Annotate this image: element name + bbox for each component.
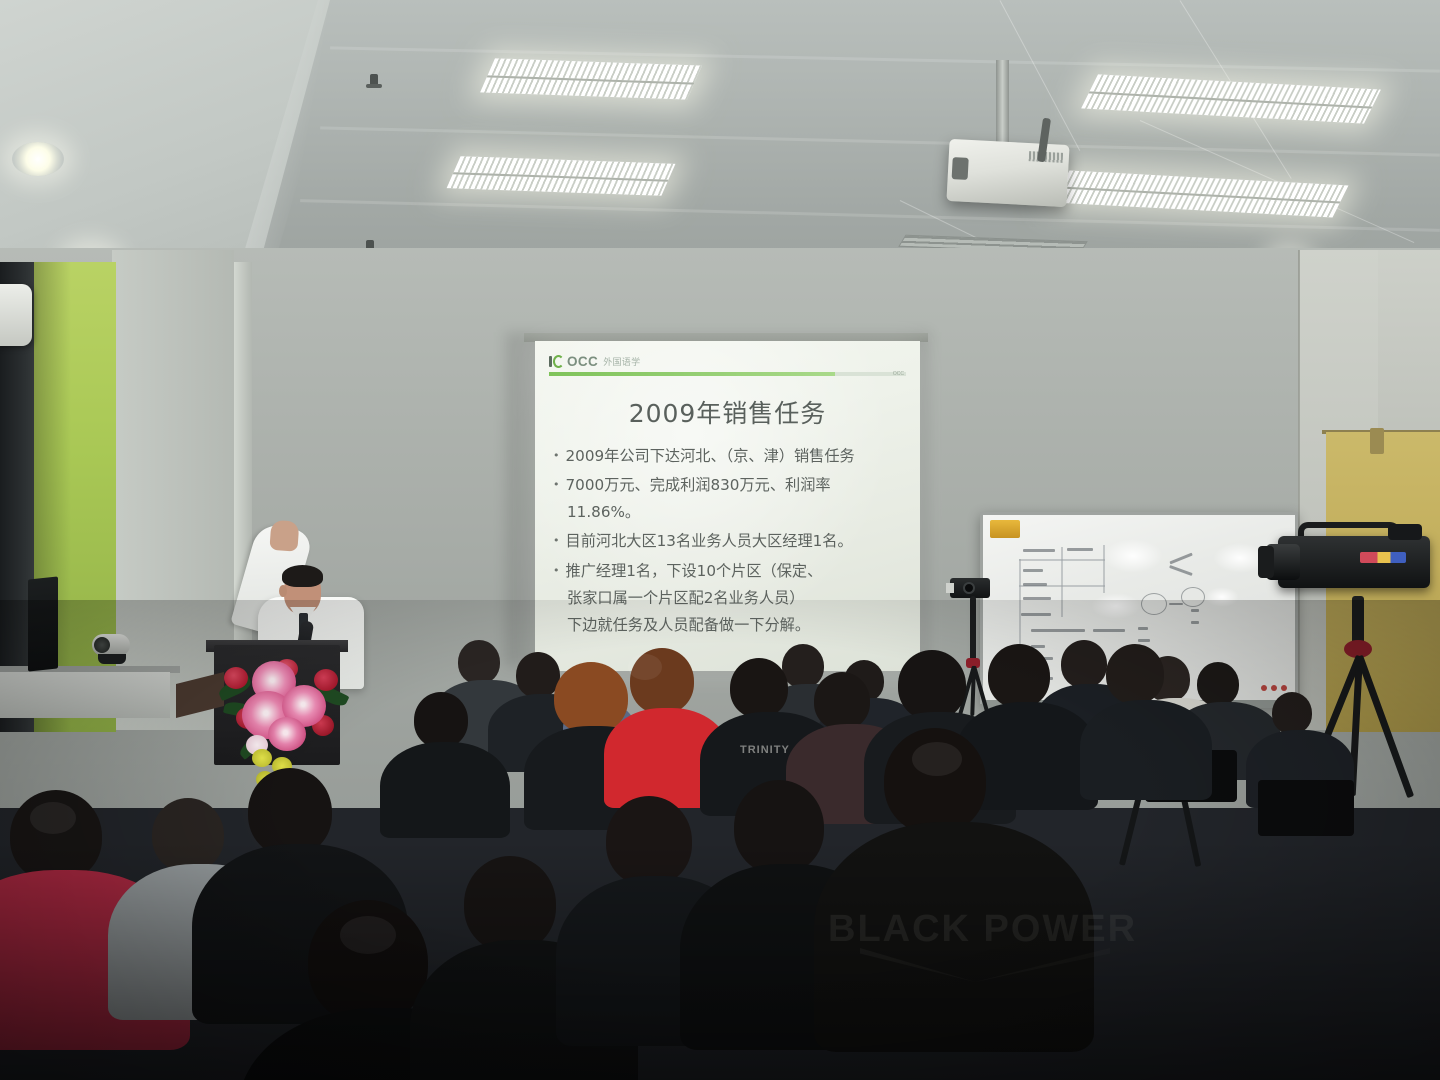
projector-mount-pole: [996, 60, 1009, 152]
slide-logo-brand-cn: 外国语学: [603, 355, 640, 368]
jacket-logo-text: BLACK POWER: [828, 908, 1137, 951]
occ-logo-icon: [549, 355, 563, 368]
slide-logo: OCC 外国语学: [549, 353, 906, 369]
ceiling-panel-light: [480, 58, 702, 99]
slide-bullet: • 目前河北大区13名业务人员大区经理1名。: [553, 531, 906, 551]
slide-logo-bar: OCC: [549, 372, 906, 376]
camera-viewfinder: [1388, 524, 1422, 540]
slide-logo-bar-tag: OCC: [893, 371, 904, 377]
audience: TRINITY: [0, 600, 1440, 1080]
presenter-hair: [282, 565, 323, 587]
whiteboard-writing: [1023, 583, 1047, 586]
camera-sticker: [1360, 552, 1406, 563]
slide-bullet-text: 推广经理1名，下设10个片区（保定、: [566, 561, 907, 581]
right-wall-upper: [1378, 250, 1440, 440]
slide-bullet: • 推广经理1名，下设10个片区（保定、: [553, 561, 906, 581]
slide-bullet-text: 目前河北大区13名业务人员大区经理1名。: [566, 531, 907, 551]
whiteboard-writing: [1169, 565, 1192, 576]
whiteboard-writing: [1023, 549, 1055, 552]
jacket-logo-text: TRINITY: [740, 744, 790, 756]
whiteboard-writing: [1067, 548, 1093, 551]
whiteboard-rule: [1019, 559, 1105, 561]
whiteboard-glare: [1103, 539, 1163, 573]
slide-title: 2009年销售任务: [549, 394, 906, 430]
compact-camera: [950, 578, 990, 598]
presenter-hand: [269, 520, 299, 552]
slide-bullet: • 2009年公司下达河北、（京、津）销售任务: [553, 446, 906, 466]
sprinkler-head-icon: [370, 74, 378, 88]
camera-lens-icon: [963, 582, 975, 594]
ceiling-downlight: [12, 142, 64, 176]
whiteboard-writing: [1023, 569, 1043, 572]
wall-hook: [1370, 428, 1384, 454]
bullet-dot-icon: •: [553, 531, 560, 551]
slide-bullet-continuation: 11.86%。: [567, 500, 906, 522]
slide-bullet-text: 7000万元、完成利润830万元、利润率: [566, 475, 907, 495]
bullet-dot-icon: •: [553, 561, 560, 581]
projector-lens-icon: [952, 157, 969, 180]
bullet-dot-icon: •: [553, 475, 560, 495]
slide-bullet-text: 2009年公司下达河北、（京、津）销售任务: [566, 446, 907, 466]
meeting-room-photo: OCC 外国语学 OCC 2009年销售任务 • 2009年公司下达河北、（京、…: [0, 0, 1440, 1080]
professional-video-camera: [1268, 520, 1436, 598]
slide-bullet: • 7000万元、完成利润830万元、利润率: [553, 475, 906, 495]
bullet-dot-icon: •: [553, 446, 560, 466]
wall-speaker: [0, 284, 32, 346]
chair-back: [1258, 780, 1354, 836]
ceiling-projector: [946, 139, 1069, 207]
whiteboard-writing: [1169, 553, 1192, 564]
whiteboard-magnet: [990, 520, 1020, 538]
slide-logo-brand: OCC: [567, 354, 598, 369]
presenter-ear: [279, 585, 287, 597]
